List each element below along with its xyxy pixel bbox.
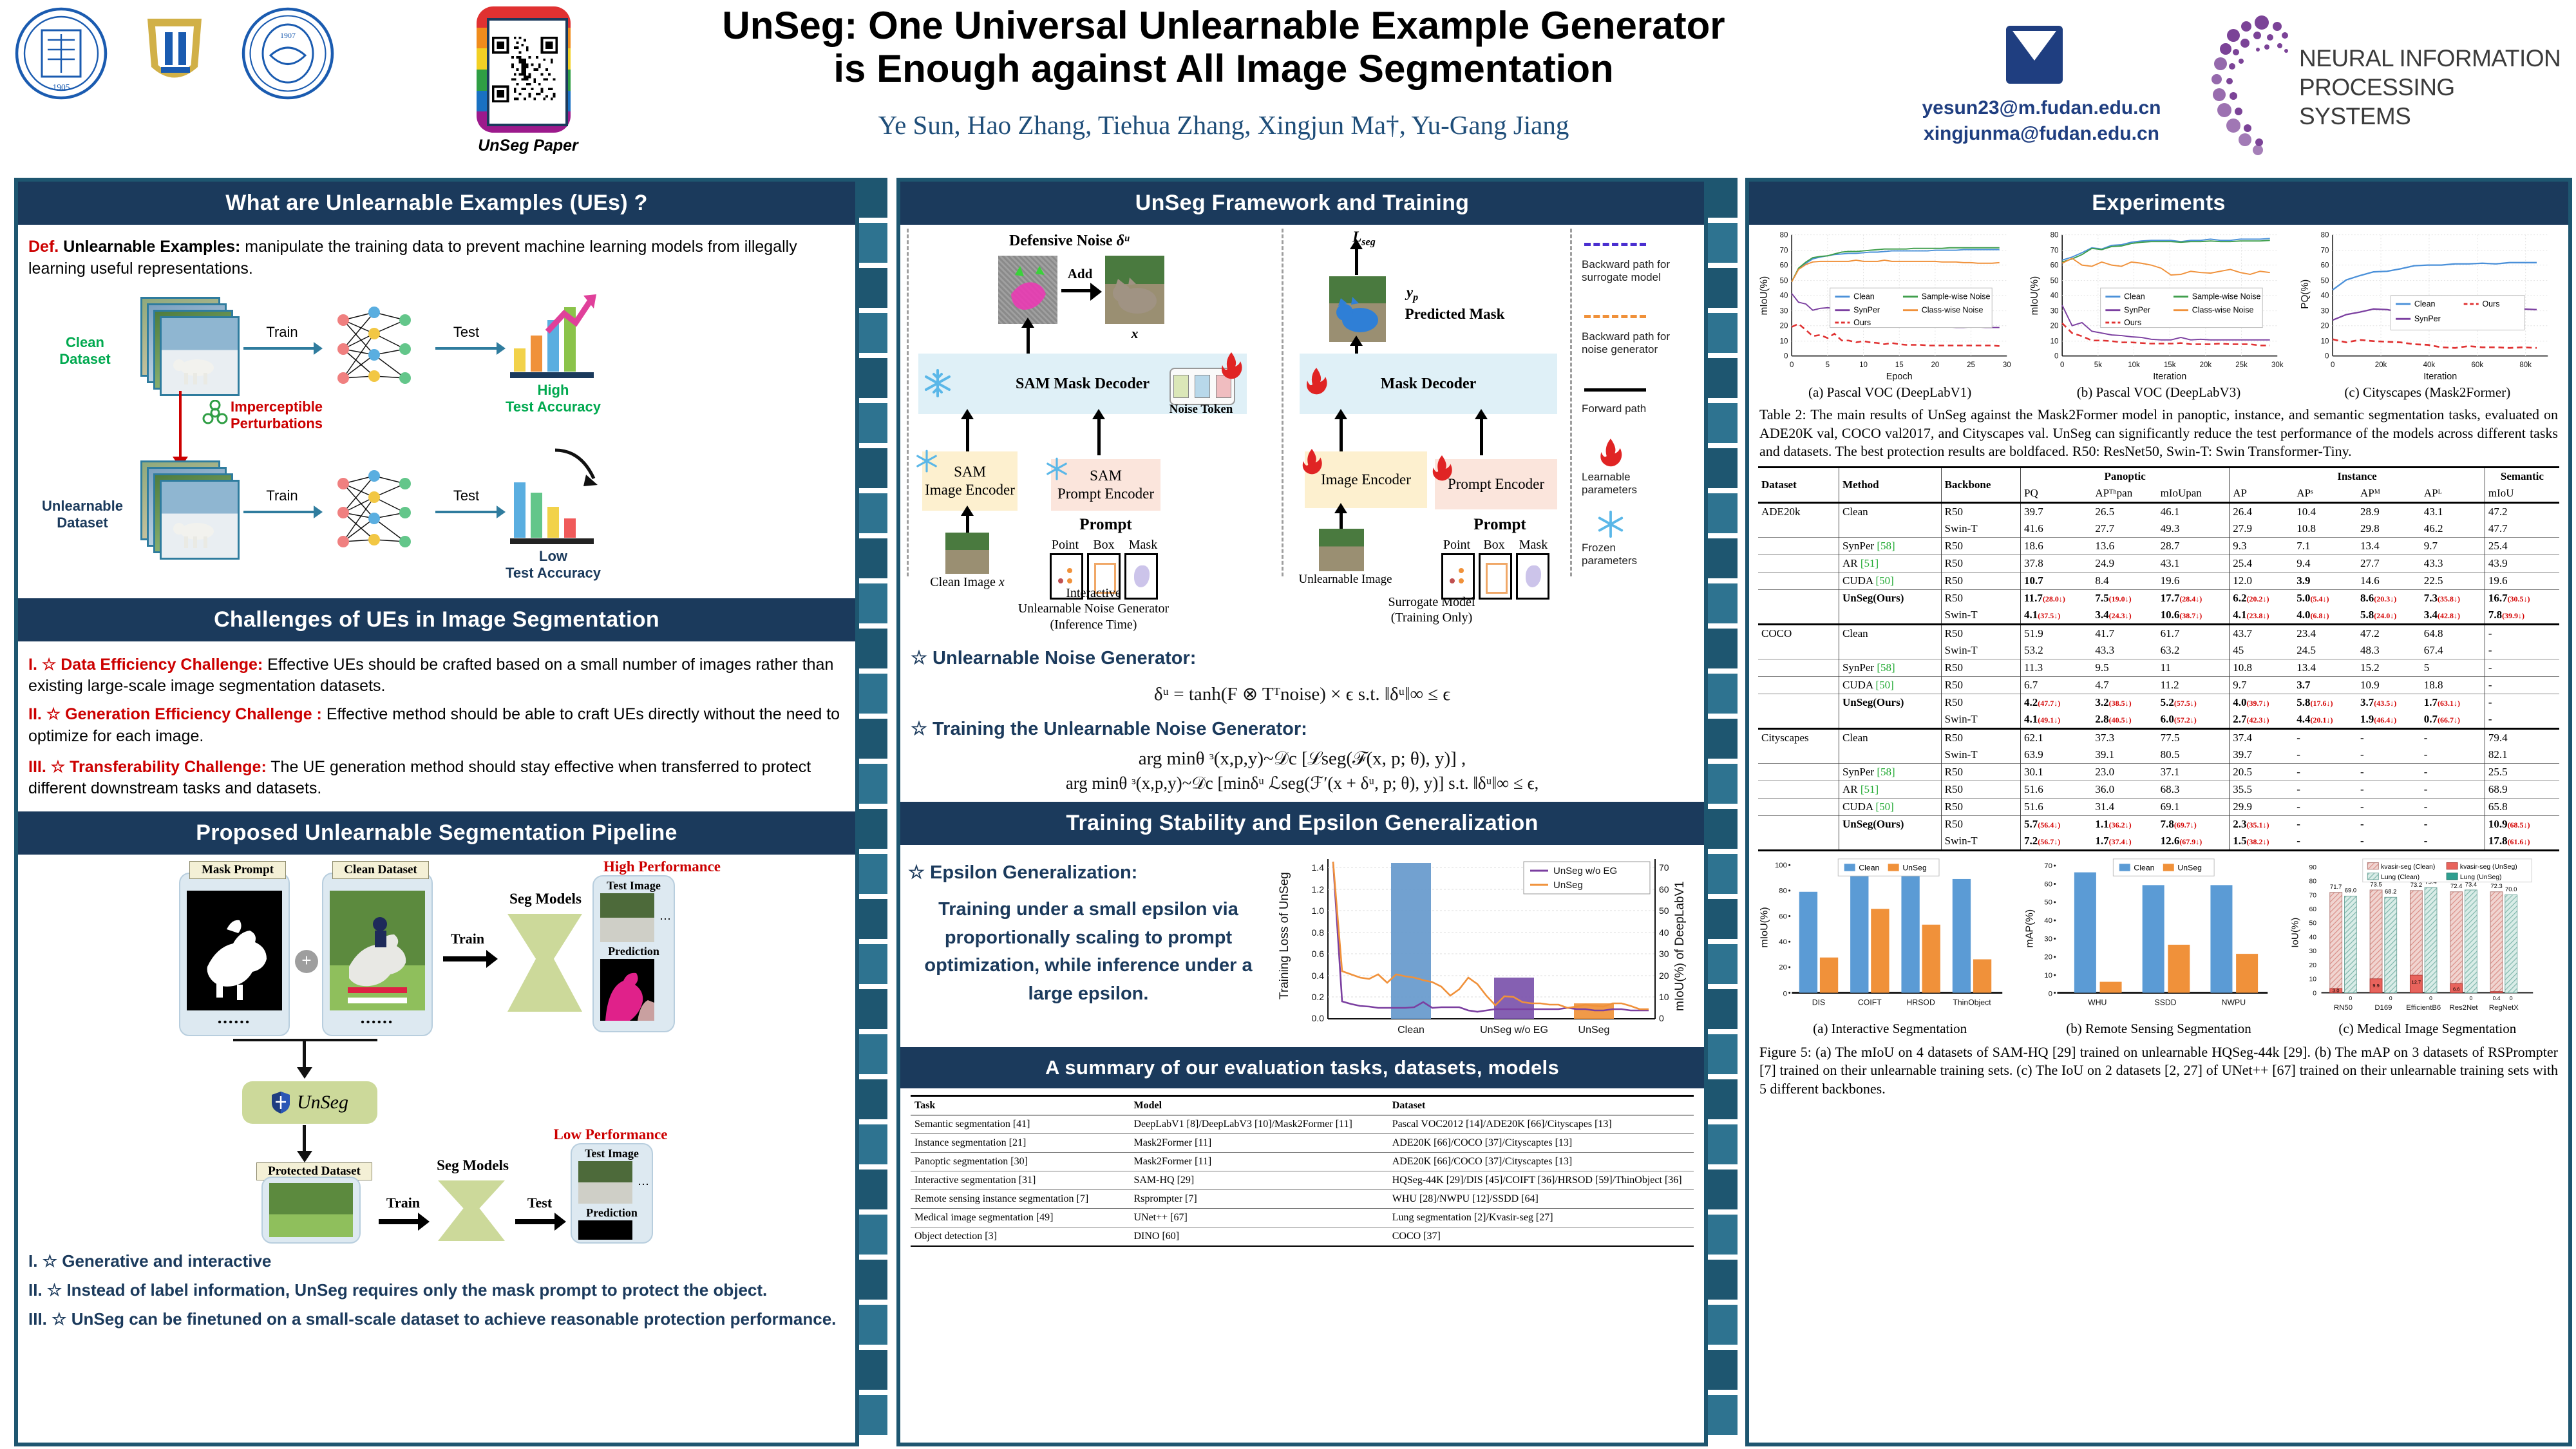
mt-cell-dataset — [1758, 746, 1839, 764]
mt-cell-value: 7.1 — [2293, 537, 2357, 554]
mt-cell-value: 23.4 — [2293, 624, 2357, 642]
perturb-l1: Imperceptible — [231, 399, 411, 415]
mt-cell-dataset — [1758, 589, 1839, 607]
mt-cell-value: 3.4(24.3↓) — [2092, 607, 2157, 625]
horse-mask-silhouette — [187, 891, 282, 1010]
challenge-1-star: ☆ — [42, 656, 56, 674]
test-image-label-bottom: Test Image — [572, 1147, 652, 1160]
svg-text:0: 0 — [1783, 990, 1787, 998]
svg-text:0: 0 — [2331, 361, 2334, 369]
mt-cell-backbone: R50 — [1941, 815, 2020, 833]
table-row: Medical image segmentation [49] UNet++ [… — [911, 1209, 1694, 1227]
takeaway-3-star: ☆ — [52, 1309, 66, 1329]
legend-3-l2: parameters — [1582, 484, 1698, 497]
high-performance-label: High Performance — [559, 858, 765, 875]
mt-cell-value: 18.8 — [2421, 676, 2485, 694]
backward-surrogate-arrow-icon — [1584, 243, 1646, 246]
unseg-module-label: UnSeg — [297, 1092, 348, 1113]
mt-cell-value: 11 — [2157, 659, 2230, 676]
summary-r5-model: UNet++ [67] — [1130, 1209, 1388, 1227]
svg-text:Sample-wise Noise: Sample-wise Noise — [2192, 292, 2261, 301]
svg-text:72.3: 72.3 — [2490, 883, 2502, 890]
fig5-subcap-a: (a) Interactive Segmentation — [1757, 1021, 2023, 1037]
predicted-mask-cat — [1329, 276, 1386, 342]
legend-4-l2: parameters — [1582, 554, 1698, 567]
svg-text:Sample-wise Noise: Sample-wise Noise — [1922, 292, 1991, 301]
svg-text:90: 90 — [2309, 864, 2316, 871]
legend-1-l1: Backward path for — [1582, 330, 1698, 343]
prediction-label-top: Prediction — [594, 945, 674, 958]
mt-cell-value: 3.2(38.5↓) — [2092, 694, 2157, 711]
table-row: UnSeg(Ours)R5011.7(28.0↓)7.5(19.0↓)17.7(… — [1758, 589, 2559, 607]
polar-bear-icon — [169, 351, 222, 388]
svg-text:9.9: 9.9 — [2372, 983, 2380, 989]
svg-text:20: 20 — [2044, 953, 2052, 961]
mt-cell-method — [1839, 642, 1941, 659]
mt-cell-value: - — [2293, 728, 2357, 746]
mt-cell-value: 82.1 — [2485, 746, 2559, 764]
mt-cell-value: - — [2293, 815, 2357, 833]
mt-cell-value: 9.5 — [2092, 659, 2157, 676]
summary-r0-task: Semantic segmentation [41] — [911, 1115, 1130, 1134]
mt-cell-method — [1839, 520, 1941, 538]
mt-cell-value: 28.7 — [2157, 537, 2230, 554]
svg-text:10: 10 — [1780, 338, 1788, 346]
svg-text:SynPer: SynPer — [2124, 306, 2150, 315]
summary-r0-model: DeepLabV1 [8]/DeepLabV3 [10]/Mask2Former… — [1130, 1115, 1388, 1134]
table2-caption: Table 2: The main results of UnSeg again… — [1759, 406, 2558, 461]
mt-cell-value: 41.7 — [2092, 624, 2157, 642]
table-row: CUDA [50]R5051.631.469.129.9---65.8 — [1758, 798, 2559, 815]
test-result-card-bottom: Test Image Prediction ⋯ — [571, 1143, 653, 1244]
mt-cell-value: 19.6 — [2485, 572, 2559, 589]
mt-cell-value: 68.9 — [2485, 781, 2559, 798]
mt-cell-value: 10.4 — [2293, 502, 2357, 520]
svg-text:30: 30 — [2003, 361, 2011, 369]
figure5-subcaptions: (a) Interactive Segmentation (b) Remote … — [1749, 1021, 2568, 1037]
svg-text:70: 70 — [2321, 247, 2329, 254]
mt-cell-value: 5.0(5.4↓) — [2293, 589, 2357, 607]
cat-photo-1 — [1105, 256, 1164, 324]
summary-r2-model: Mask2Former [11] — [1130, 1153, 1388, 1171]
svg-text:0.4: 0.4 — [1312, 971, 1325, 981]
legend-3-l1: Learnable — [1582, 471, 1698, 484]
equations-block: ☆ Unlearnable Noise Generator: δᵘ = tanh… — [900, 646, 1704, 802]
legend-4-l1: Frozen — [1582, 542, 1698, 554]
high-accuracy-chart-icon — [510, 301, 600, 378]
forward-arrow-icon — [1584, 388, 1646, 392]
svg-text:0.4: 0.4 — [2493, 995, 2501, 1001]
pipeline-connector-arrow — [297, 1067, 312, 1079]
svg-text:0: 0 — [2510, 995, 2513, 1001]
table-row: Swin-T53.243.363.24524.548.367.4- — [1758, 642, 2559, 659]
mt-grp-panoptic: Panoptic — [2021, 467, 2230, 485]
mt-cell-value: 43.1 — [2421, 502, 2485, 520]
takeaway-2-num: II. — [28, 1280, 43, 1300]
mt-cell-value: 25.4 — [2485, 537, 2559, 554]
svg-text:Ours: Ours — [2482, 299, 2499, 308]
sam-img-enc-arrow — [966, 418, 969, 455]
pipeline-test-arrow-bottom — [515, 1219, 555, 1224]
mt-cell-value: 12.6(67.9↓) — [2157, 833, 2230, 851]
surrogate-l1: Surrogate Model — [1293, 594, 1570, 610]
mt-cell-value: 49.3 — [2157, 520, 2230, 538]
mt-cell-value: 4.2(47.7↓) — [2021, 694, 2092, 711]
qr-code-image[interactable] — [487, 18, 568, 126]
yp-sub: p — [1413, 292, 1418, 303]
mt-cell-backbone: R50 — [1941, 589, 2020, 607]
mt-cell-value: 46.1 — [2157, 502, 2230, 520]
mt-cell-value: 48.3 — [2357, 642, 2421, 659]
decorative-spine-right — [1708, 178, 1738, 1439]
svg-text:mIoU(%): mIoU(%) — [1759, 276, 1770, 316]
svg-text:60: 60 — [2321, 261, 2329, 269]
svg-text:40: 40 — [2044, 917, 2052, 925]
surrogate-model-caption: Surrogate Model (Training Only) — [1293, 594, 1570, 626]
mt-cell-value: 13.4 — [2293, 659, 2357, 676]
mt-cell-value: 9.3 — [2230, 537, 2294, 554]
contact-emails[interactable]: yesun23@m.fudan.edu.cn xingjunma@fudan.e… — [1906, 95, 2177, 147]
point-label-left: Point — [1048, 538, 1082, 553]
mt-cell-value: 43.1 — [2157, 554, 2230, 572]
test-label-unlearnable: Test — [435, 488, 497, 504]
email-icon — [2006, 26, 2063, 84]
svg-text:Iteration: Iteration — [2153, 372, 2186, 382]
svg-text:80: 80 — [1779, 887, 1787, 895]
mt-cell-value: 37.1 — [2157, 763, 2230, 781]
mt-cell-dataset: COCO — [1758, 624, 1839, 642]
mt-cell-value: 3.4(42.8↓) — [2421, 607, 2485, 625]
svg-text:Iteration: Iteration — [2423, 372, 2457, 382]
surrogate-l2: (Training Only) — [1293, 610, 1570, 625]
prompt-label-left: Prompt — [1057, 516, 1154, 534]
takeaway-2-star: ☆ — [47, 1280, 62, 1300]
summary-header-row: Task Model Dataset — [911, 1096, 1694, 1115]
clean-dataset-l1: Clean — [40, 334, 130, 351]
unlearnable-l2: Dataset — [31, 515, 134, 531]
experiment-subcaptions: (a) Pascal VOC (DeepLabV1) (b) Pascal VO… — [1749, 383, 2568, 401]
pipeline-connector-v — [303, 1039, 306, 1068]
svg-text:COIFT: COIFT — [1858, 998, 1882, 1007]
mt-cell-value: - — [2485, 642, 2559, 659]
mt-cell-value: 65.8 — [2485, 798, 2559, 815]
legend-2-l1: Forward path — [1582, 402, 1698, 415]
svg-text:0: 0 — [2349, 995, 2353, 1001]
mt-grp-instance: Instance — [2230, 467, 2485, 485]
svg-text:50: 50 — [1659, 905, 1669, 916]
mt-cell-value: 37.8 — [2021, 554, 2092, 572]
takeaway-3-num: III. — [28, 1309, 47, 1329]
section-title-experiments: Experiments — [1749, 182, 2568, 225]
summary-r5-task: Medical image segmentation [49] — [911, 1209, 1130, 1227]
svg-text:10: 10 — [2050, 338, 2059, 346]
svg-text:70: 70 — [1659, 862, 1669, 873]
sam-prompt-encoder-l1: SAM — [1090, 467, 1122, 485]
svg-text:100: 100 — [1775, 862, 1787, 869]
flame-icon-1 — [1218, 351, 1244, 381]
legend-flame-icon — [1597, 437, 1624, 468]
pipeline-diagram: •••••• Mask Prompt + •••••• Clean Datase… — [18, 855, 855, 1241]
svg-text:Clean: Clean — [2414, 299, 2436, 308]
svg-text:70: 70 — [2309, 892, 2316, 899]
low-l2: Test Accuracy — [479, 565, 627, 582]
mt-cell-value: 5.8(17.6↓) — [2293, 694, 2357, 711]
summary-r1-model: Mask2Former [11] — [1130, 1134, 1388, 1153]
unlearnable-image-thumb — [1319, 529, 1364, 571]
section-title-stability: Training Stability and Epsilon Generaliz… — [900, 802, 1704, 845]
prediction-image-top — [600, 959, 654, 1021]
sam-prompt-enc-arrow — [1097, 418, 1101, 455]
mt-cell-backbone: R50 — [1941, 572, 2020, 589]
mt-cell-value: - — [2485, 624, 2559, 642]
svg-text:SynPer: SynPer — [2414, 314, 2441, 323]
section-title-pipeline: Proposed Unlearnable Segmentation Pipeli… — [18, 811, 855, 855]
mt-cell-value: 36.0 — [2092, 781, 2157, 798]
snowflake-icon-2 — [914, 449, 939, 473]
main-results-table: Dataset Method Backbone Panoptic Instanc… — [1758, 466, 2559, 851]
summary-table-wrap: Task Model Dataset Semantic segmentation… — [900, 1088, 1704, 1247]
svg-text:Clean: Clean — [2124, 292, 2145, 301]
svg-text:40: 40 — [1659, 927, 1669, 938]
svg-text:0: 0 — [1790, 361, 1794, 369]
neural-network-icon-clean — [326, 301, 422, 397]
mt-cell-method: UnSeg(Ours) — [1839, 694, 1941, 711]
legend-frozen: Frozen parameters — [1582, 542, 1698, 568]
mt-cell-value: - — [2421, 728, 2485, 746]
svg-text:10: 10 — [1859, 361, 1868, 369]
svg-text:Class-wise Noise: Class-wise Noise — [2192, 306, 2254, 315]
mt-cell-value: 47.2 — [2357, 624, 2421, 642]
column-left: What are Unlearnable Examples (UEs) ? De… — [14, 178, 859, 1446]
svg-text:mAP(%): mAP(%) — [2024, 909, 2036, 948]
mt-cell-value: 20.5 — [2230, 763, 2294, 781]
svg-text:0: 0 — [2429, 995, 2432, 1001]
test-image-bottom — [578, 1161, 632, 1204]
prompt-label-right: Prompt — [1452, 516, 1548, 534]
summary-r3-dataset: HQSeg-44K [29]/DIS [45]/COIFT [36]/HRSOD… — [1388, 1171, 1694, 1190]
x-label-1: x — [1105, 325, 1164, 342]
mt-cell-method: Clean — [1839, 624, 1941, 642]
mt-cell-value: 35.5 — [2230, 781, 2294, 798]
mt-h-apl: APᴸ — [2421, 485, 2485, 503]
mt-cell-value: 1.1(36.2↓) — [2092, 815, 2157, 833]
unseg-module[interactable]: UnSeg — [242, 1081, 377, 1124]
chart-pascal-voc-deeplabv3: 01020 304050 607080 05k10k 15k20k25k30k … — [2022, 229, 2293, 383]
svg-text:20: 20 — [2309, 962, 2316, 969]
mt-cell-value: 45 — [2230, 642, 2294, 659]
test-label-clean: Test — [435, 324, 497, 341]
svg-text:RegNetX: RegNetX — [2489, 1004, 2519, 1012]
flame-icon-2 — [1303, 366, 1329, 396]
mt-cell-value: 11.7(28.0↓) — [2021, 589, 2092, 607]
mt-cell-value: - — [2357, 833, 2421, 851]
figure5-caption: Figure 5: (a) The mIoU on 4 datasets of … — [1759, 1043, 2558, 1099]
challenge-1-num: I. — [28, 656, 37, 674]
svg-text:70: 70 — [1780, 247, 1788, 254]
pipeline-train-label-top: Train — [435, 931, 500, 947]
mt-cell-value: 10.9 — [2357, 676, 2421, 694]
mt-cell-value: 41.6 — [2021, 520, 2092, 538]
table-row: Object detection [3] DINO [60] COCO [37] — [911, 1227, 1694, 1247]
svg-text:UnSeg: UnSeg — [1578, 1025, 1610, 1036]
summary-r4-dataset: WHU [28]/NWPU [12]/SSDD [64] — [1388, 1190, 1694, 1209]
table-row: Swin-T4.1(49.1↓)2.8(40.5↓)6.0(57.2↓)2.7(… — [1758, 711, 2559, 729]
train-arrow-clean — [243, 347, 314, 350]
mask-prompt-image — [187, 891, 282, 1010]
svg-text:30k: 30k — [2271, 361, 2284, 369]
mt-cell-value: 17.7(28.4↓) — [2157, 589, 2230, 607]
mt-cell-value: - — [2357, 798, 2421, 815]
mt-cell-value: 67.4 — [2421, 642, 2485, 659]
mt-cell-value: 13.6 — [2092, 537, 2157, 554]
mt-cell-backbone: Swin-T — [1941, 746, 2020, 764]
mt-cell-dataset — [1758, 642, 1839, 659]
mt-cell-backbone: R50 — [1941, 728, 2020, 746]
mt-cell-method: UnSeg(Ours) — [1839, 815, 1941, 833]
challenges-list: I. ☆ Data Efficiency Challenge: Effectiv… — [18, 641, 855, 812]
chart-pascal-voc-deeplabv1: 01020 304050 607080 0510 15202530 mIoU(%… — [1752, 229, 2022, 383]
unlearnable-image-stack — [140, 460, 237, 551]
university-logos: 1905 1907 — [13, 5, 336, 102]
email-2[interactable]: xingjunma@fudan.edu.cn — [1906, 121, 2177, 147]
svg-text:20: 20 — [1780, 323, 1788, 330]
interactive-l3: (Inference Time) — [920, 617, 1267, 632]
mt-cell-value: 1.5(38.2↓) — [2230, 833, 2294, 851]
mt-h-miou: mIoU — [2485, 485, 2559, 503]
ue-diagram: Clean Dataset Train — [18, 288, 855, 598]
predicted-mask-label: Predicted Mask — [1387, 306, 1522, 323]
svg-text:0.8: 0.8 — [1312, 927, 1325, 938]
framework-panel-captions: Interactive Unlearnable Noise Generator … — [900, 585, 1704, 645]
mt-cell-value: 51.9 — [2021, 624, 2092, 642]
high-l1: High — [479, 382, 627, 399]
mt-cell-method: Clean — [1839, 502, 1941, 520]
seg-models-shape-top — [507, 914, 582, 1012]
mt-cell-value: 6.2(20.2↓) — [2230, 589, 2294, 607]
defensive-noise-symbol: δᵘ — [1117, 232, 1129, 249]
svg-text:0: 0 — [2313, 990, 2316, 997]
evaluation-summary-table: Task Model Dataset Semantic segmentation… — [911, 1095, 1694, 1247]
summary-r6-task: Object detection [3] — [911, 1227, 1130, 1247]
mt-h-apm: APᴹ — [2357, 485, 2421, 503]
neurips-line-1: NEURAL INFORMATION — [2299, 44, 2570, 73]
up-arrow-icon — [545, 290, 600, 337]
table-row: SynPer [58]R5030.123.037.120.5---25.5 — [1758, 763, 2559, 781]
mt-cell-value: - — [2485, 711, 2559, 729]
svg-text:0.0: 0.0 — [1312, 1013, 1325, 1023]
mt-cell-value: 7.5(19.0↓) — [2092, 589, 2157, 607]
title-line-1: UnSeg: One Universal Unlearnable Example… — [612, 4, 1835, 47]
clean-dataset-image — [330, 891, 425, 1010]
box-label-right: Box — [1477, 538, 1511, 553]
stability-heading: ☆ Epsilon Generalization: — [908, 860, 1269, 885]
svg-text:20: 20 — [2321, 323, 2329, 330]
legend-backward-noise: Backward path for noise generator — [1582, 330, 1698, 357]
svg-text:IoU(%): IoU(%) — [2290, 917, 2301, 947]
svg-text:12.7: 12.7 — [2412, 979, 2421, 985]
neurips-logo: NEURAL INFORMATION PROCESSING SYSTEMS — [2209, 10, 2570, 165]
mt-cell-value: 30.1 — [2021, 763, 2092, 781]
point-label-right: Point — [1440, 538, 1473, 553]
svg-text:10: 10 — [2044, 972, 2052, 980]
svg-text:40: 40 — [1780, 292, 1788, 300]
svg-text:EfficientB6: EfficientB6 — [2406, 1004, 2441, 1012]
table-row: CUDA [50]R506.74.711.29.73.710.918.8- — [1758, 676, 2559, 694]
mt-cell-value: 26.5 — [2092, 502, 2157, 520]
svg-text:6.6: 6.6 — [2453, 987, 2460, 992]
unlearnable-image-caption: Unlearnable Image — [1284, 573, 1406, 587]
equation-3: arg minθ ᵌ(x,p,y)~𝒟c [minδᵘ ℒseg(ℱ′(x + … — [911, 773, 1694, 794]
svg-text:40: 40 — [2309, 934, 2316, 941]
sam-image-encoder-l1: SAM — [954, 463, 986, 481]
email-1[interactable]: yesun23@m.fudan.edu.cn — [1906, 95, 2177, 121]
mt-cell-value: 39.7 — [2230, 746, 2294, 764]
mt-cell-dataset — [1758, 798, 1839, 815]
svg-text:HRSOD: HRSOD — [1907, 998, 1935, 1007]
svg-text:0.2: 0.2 — [1312, 992, 1325, 1002]
summary-r1-dataset: ADE20K [66]/COCO [37]/Cityscaptes [13] — [1388, 1134, 1694, 1153]
polar-bear-icon-2 — [169, 515, 222, 552]
svg-text:15k: 15k — [2164, 361, 2176, 369]
mt-cell-backbone: R50 — [1941, 676, 2020, 694]
ue-definition: Def. Unlearnable Examples: manipulate th… — [28, 236, 845, 280]
pipeline-train-label-bottom: Train — [371, 1195, 435, 1211]
test-arrow-clean — [435, 347, 497, 350]
svg-text:50: 50 — [2321, 277, 2329, 285]
mt-cell-value: - — [2293, 763, 2357, 781]
svg-text:1907: 1907 — [280, 31, 296, 40]
mt-cell-method: CUDA [50] — [1839, 798, 1941, 815]
takeaway-1-star: ☆ — [43, 1251, 57, 1271]
legend-0-l1: Backward path for — [1582, 258, 1698, 271]
high-accuracy-label: High Test Accuracy — [479, 382, 627, 415]
neurips-line-2: PROCESSING SYSTEMS — [2299, 73, 2570, 131]
mt-cell-value: 7.2(56.7↓) — [2021, 833, 2092, 851]
mt-cell-value: 10.8 — [2293, 520, 2357, 538]
svg-text:0: 0 — [2060, 361, 2064, 369]
column-middle: UnSeg Framework and Training Defensive N… — [896, 178, 1708, 1446]
train-label-unlearnable: Train — [250, 488, 314, 504]
summary-header-model: Model — [1130, 1096, 1388, 1115]
main-table-wrap: Dataset Method Backbone Panoptic Instanc… — [1749, 466, 2568, 851]
table-row: COCOCleanR5051.941.761.743.723.447.264.8… — [1758, 624, 2559, 642]
summary-r0-dataset: Pascal VOC2012 [14]/ADE20K [66]/Cityscap… — [1388, 1115, 1694, 1134]
pipeline-train-arrow-bottom — [379, 1219, 419, 1224]
mt-cell-method: UnSeg(Ours) — [1839, 589, 1941, 607]
mt-cell-dataset — [1758, 676, 1839, 694]
ellipsis-bottom: ⋯ — [638, 1178, 649, 1191]
mt-cell-value: 0.7(66.7↓) — [2421, 711, 2485, 729]
mt-cell-value: 47.7 — [2485, 520, 2559, 538]
svg-text:mIoU(%): mIoU(%) — [2029, 276, 2040, 316]
mt-cell-value: 27.7 — [2092, 520, 2157, 538]
plus-icon: + — [295, 950, 318, 973]
challenge-item-1: I. ☆ Data Efficiency Challenge: Effectiv… — [28, 654, 845, 698]
svg-text:71.7: 71.7 — [2330, 884, 2342, 891]
svg-text:1905: 1905 — [53, 82, 70, 92]
mt-cell-dataset: Cityscapes — [1758, 728, 1839, 746]
qr-caption: UnSeg Paper — [477, 137, 580, 155]
svg-text:80: 80 — [2050, 231, 2059, 239]
summary-r4-task: Remote sensing instance segmentation [7] — [911, 1190, 1130, 1209]
add-arrow — [1061, 289, 1091, 292]
neural-network-icon-unlearnable — [326, 464, 422, 561]
clean-image-stack — [140, 297, 237, 387]
box-label-left: Box — [1087, 538, 1121, 553]
challenge-1-head: Data Efficiency Challenge: — [61, 656, 263, 674]
svg-text:Clean: Clean — [1853, 292, 1875, 301]
unlearnable-dataset-label: Unlearnable Dataset — [31, 498, 134, 531]
